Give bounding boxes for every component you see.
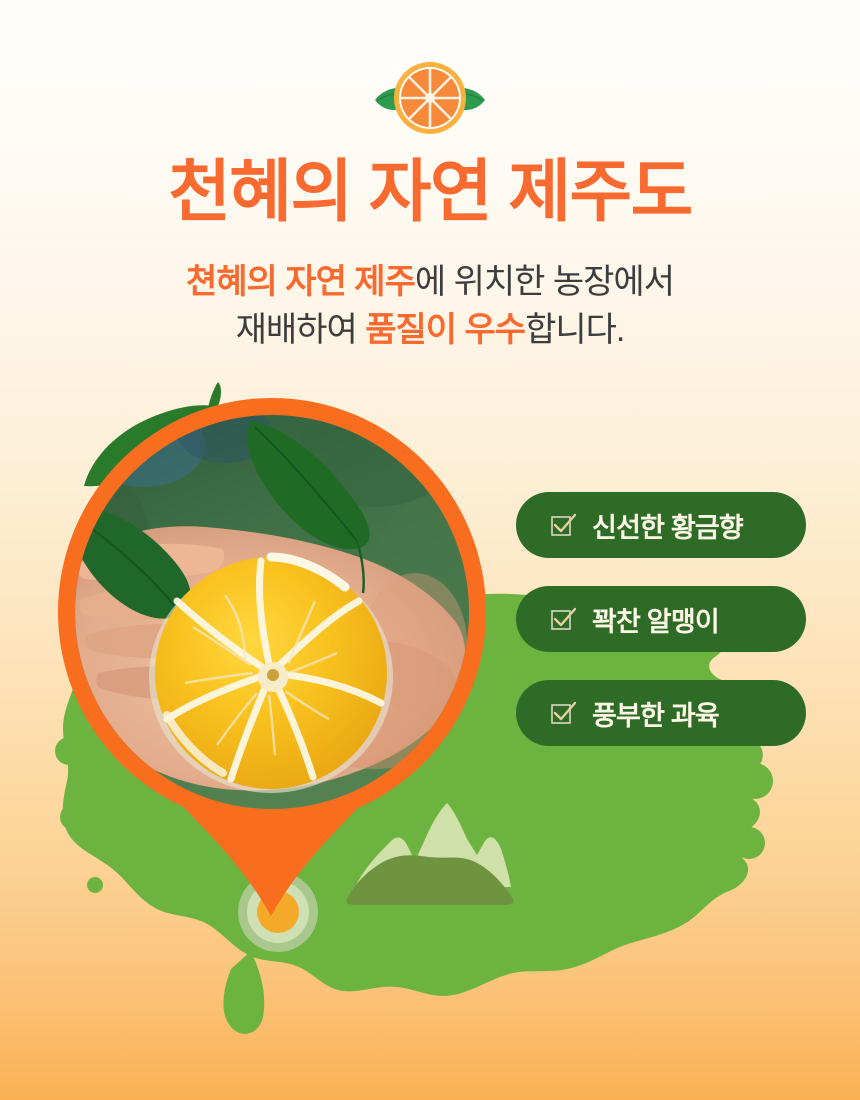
- pin-photo-frame: [58, 398, 486, 826]
- orange-slice-with-leaves-logo: [367, 54, 493, 142]
- subtitle-highlight-1: 쳔혜의 자연 제주: [186, 263, 415, 301]
- page-title: 천혜의 자연 제주도: [0, 156, 860, 229]
- feature-badge-list: 신선한 황금향 꽉찬 알맹이 풍부한 과육: [516, 492, 806, 746]
- subtitle-plain-2a: 재배하여: [236, 311, 366, 349]
- page-subtitle: 쳔혜의 자연 제주에 위치한 농장에서 재배하여 품질이 우수합니다.: [0, 258, 860, 355]
- jeju-promo-poster: 천혜의 자연 제주도 쳔혜의 자연 제주에 위치한 농장에서 재배하여 품질이 …: [0, 0, 860, 1100]
- brand-logo: [0, 48, 860, 148]
- badge-label: 꽉찬 알맹이: [592, 600, 719, 639]
- badge-fresh-hwanggeumhyang[interactable]: 신선한 황금향: [516, 492, 806, 558]
- checkbox-checked-icon: [550, 700, 576, 726]
- subtitle-line-1: 쳔혜의 자연 제주에 위치한 농장에서: [0, 258, 860, 306]
- subtitle-line-2: 재배하여 품질이 우수합니다.: [0, 306, 860, 354]
- badge-full-flesh[interactable]: 꽉찬 알맹이: [516, 586, 806, 652]
- badge-label: 신선한 황금향: [592, 506, 743, 545]
- badge-label: 풍부한 과육: [592, 694, 719, 733]
- checkbox-checked-icon: [550, 606, 576, 632]
- map-pin-marker: [55, 398, 487, 928]
- subtitle-highlight-2: 품질이 우수: [365, 311, 525, 349]
- citrus-in-hand-photo: [75, 415, 469, 809]
- subtitle-plain-2b: 합니다.: [525, 311, 624, 349]
- badge-abundant-pulp[interactable]: 풍부한 과육: [516, 680, 806, 746]
- subtitle-plain-1: 에 위치한 농장에서: [415, 263, 674, 301]
- checkbox-checked-icon: [550, 512, 576, 538]
